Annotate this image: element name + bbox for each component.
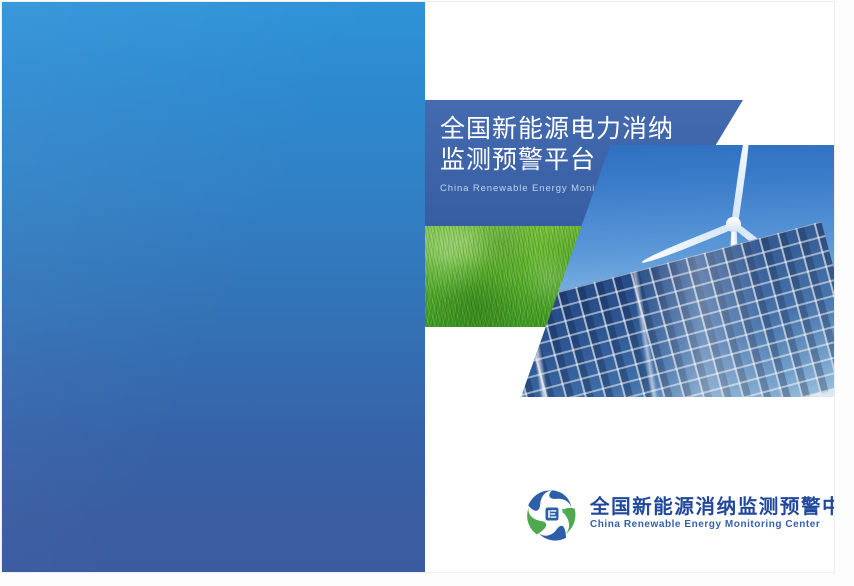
logo-text-block: 全国新能源消纳监测预警中心 China Renewable Energy Mon… [590,498,834,531]
cover-page: 全国新能源电力消纳 监测预警平台 China Renewable Energy … [2,2,834,572]
turbine-blade [731,145,752,225]
right-content-area: 全国新能源电力消纳 监测预警平台 China Renewable Energy … [425,2,834,572]
organization-logo: 全国新能源消纳监测预警中心 China Renewable Energy Mon… [525,487,834,541]
logo-name-en: China Renewable Energy Monitoring Center [590,520,834,530]
title-cn-line1: 全国新能源电力消纳 [440,114,680,145]
screenshot-stage: 全国新能源电力消纳 监测预警平台 China Renewable Energy … [0,0,854,586]
turbine-hub [726,217,741,232]
logo-name-cn: 全国新能源消纳监测预警中心 [590,498,834,518]
left-gradient-panel [2,2,425,572]
renewable-energy-swirl-logo [525,487,579,541]
